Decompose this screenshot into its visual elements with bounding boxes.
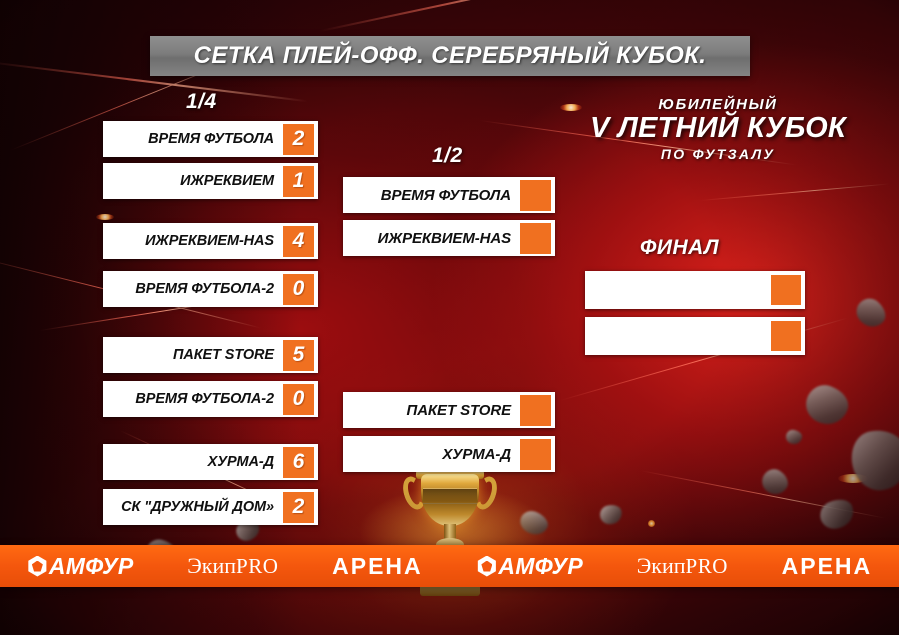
bracket-row[interactable]: ВРЕМЯ ФУТБОЛА 2 [103,121,318,157]
team-name: ХУРМА-Д [208,454,283,470]
team-name: ВРЕМЯ ФУТБОЛА [148,131,283,147]
round-label-final: ФИНАЛ [640,236,719,260]
score-box: 1 [283,166,314,197]
bracket-row[interactable]: СК "ДРУЖНЫЙ ДОМ» 2 [103,489,318,525]
bracket-row[interactable]: ВРЕМЯ ФУТБОЛА-2 0 [103,271,318,307]
hexagon-ball-icon [27,556,48,577]
bracket-row[interactable]: ИЖРЕКВИЕМ-HAS 4 [103,223,318,259]
team-name: ИЖРЕКВИЕМ-HAS [145,233,283,249]
tournament-logo: ЮБИЛЕЙНЫЙ V ЛЕТНИЙ КУБОК ПО ФУТЗАЛУ [558,96,878,162]
team-name: ВРЕМЯ ФУТБОЛА-2 [135,391,283,407]
bracket-row[interactable]: ХУРМА-Д [343,436,555,472]
bracket-row[interactable]: ВРЕМЯ ФУТБОЛА [343,177,555,213]
score-box: 6 [283,447,314,478]
bracket-row[interactable]: ВРЕМЯ ФУТБОЛА-2 0 [103,381,318,417]
score-box [520,439,551,470]
score-box [520,223,551,254]
logo-line-main: V ЛЕТНИЙ КУБОК [558,114,878,144]
round-label-semifinal: 1/2 [432,144,463,168]
sponsor-ekip-pro[interactable]: Экип PRO [637,553,728,579]
round-label-quarterfinal: 1/4 [186,90,217,114]
sponsor-ekip-suffix: PRO [686,554,728,579]
page-title: СЕТКА ПЛЕЙ-ОФФ. СЕРЕБРЯНЫЙ КУБОК. [194,42,707,70]
team-name: ВРЕМЯ ФУТБОЛА [381,187,520,204]
logo-line-anniversary: ЮБИЛЕЙНЫЙ [558,96,878,113]
team-name: ПАКЕТ STORE [407,402,520,419]
sponsor-amfur-label: АМФУР [49,553,134,580]
bracket-row[interactable] [585,271,805,309]
team-name: СК "ДРУЖНЫЙ ДОМ» [121,499,283,515]
score-box: 2 [283,124,314,155]
team-name: ПАКЕТ STORE [173,347,283,363]
sponsor-amfur[interactable]: АМФУР [476,553,583,580]
score-box: 0 [283,384,314,415]
sponsor-ekip-label: Экип [187,553,236,579]
bracket-row[interactable]: ПАКЕТ STORE 5 [103,337,318,373]
sponsor-ekip-suffix: PRO [236,554,278,579]
sponsor-group: АМФУР Экип PRO АРЕНА [450,553,899,580]
bracket-row[interactable] [585,317,805,355]
team-name: ВРЕМЯ ФУТБОЛА-2 [135,281,283,297]
sponsor-arena-label: АРЕНА [782,553,873,580]
bracket-row[interactable]: ИЖРЕКВИЕМ 1 [103,163,318,199]
sponsor-arena[interactable]: АРЕНА [332,553,423,580]
score-box: 5 [283,340,314,371]
team-name: ИЖРЕКВИЕМ [180,173,283,189]
score-box: 0 [283,274,314,305]
sponsor-ekip-pro[interactable]: Экип PRO [187,553,278,579]
bracket-row[interactable]: ХУРМА-Д 6 [103,444,318,480]
team-name: ХУРМА-Д [442,446,520,463]
score-box [520,180,551,211]
score-box [771,321,801,351]
sponsor-arena[interactable]: АРЕНА [782,553,873,580]
logo-line-discipline: ПО ФУТЗАЛУ [558,146,878,162]
score-box [771,275,801,305]
bracket-row[interactable]: ПАКЕТ STORE [343,392,555,428]
score-box: 2 [283,492,314,523]
page-title-banner: СЕТКА ПЛЕЙ-ОФФ. СЕРЕБРЯНЫЙ КУБОК. [150,36,750,76]
sponsor-amfur[interactable]: АМФУР [27,553,134,580]
sponsor-group: АМФУР Экип PRO АРЕНА [0,553,450,580]
sponsor-bar: АМФУР Экип PRO АРЕНА АМФУР Экип PRO АРЕН… [0,545,899,587]
poster-stage: СЕТКА ПЛЕЙ-ОФФ. СЕРЕБРЯНЫЙ КУБОК. ЮБИЛЕЙ… [0,0,899,635]
bracket-row[interactable]: ИЖРЕКВИЕМ-HAS [343,220,555,256]
score-box: 4 [283,226,314,257]
sponsor-ekip-label: Экип [637,553,686,579]
hexagon-ball-icon [476,556,497,577]
sponsor-arena-label: АРЕНА [332,553,423,580]
team-name: ИЖРЕКВИЕМ-HAS [378,230,520,247]
score-box [520,395,551,426]
sponsor-amfur-label: АМФУР [498,553,583,580]
